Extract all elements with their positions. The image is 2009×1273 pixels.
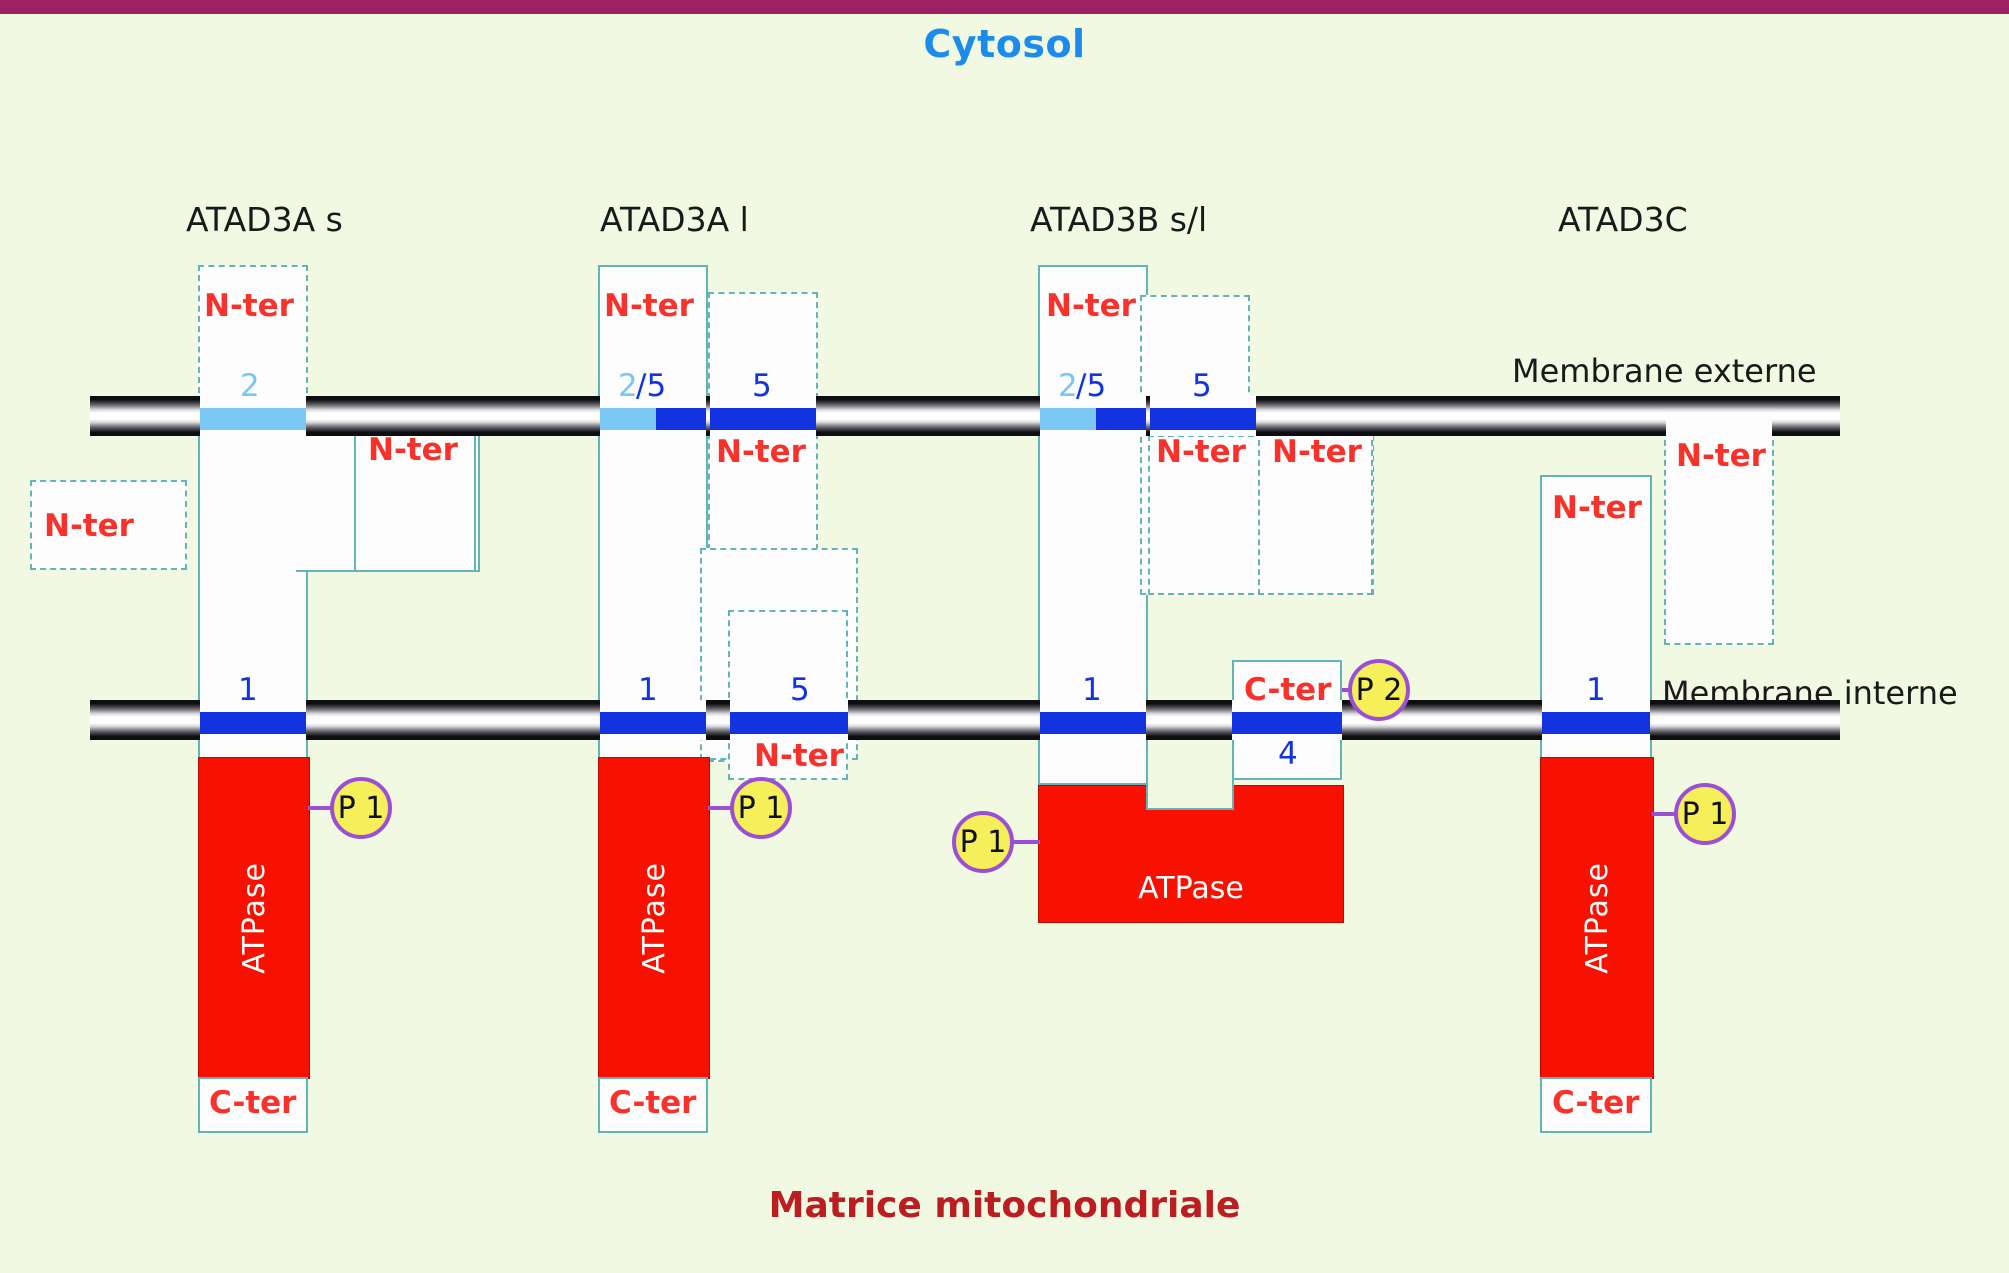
tm-number-atad3a-l-5-inner: 5 [790,672,810,708]
phospho-marker-p1-atad3a-s[interactable]: P 1 [330,777,392,839]
atpase-label-atad3b: ATPase [1138,871,1244,906]
nter-label-atad3a-s-left: N-ter [44,508,134,544]
tm-atad3b-outer-5 [1096,408,1146,430]
protein-title-atad3c: ATAD3C [1558,200,1688,239]
phospho-marker-p1-atad3c[interactable]: P 1 [1674,783,1736,845]
tm-atad3b-outer-2 [1040,408,1096,430]
top-accent-bar [0,0,2009,14]
atad3c-outer-gap [1666,414,1772,438]
tm-atad3a-l-outer-5b [710,408,816,430]
cter-label-atad3c: C-ter [1552,1085,1639,1121]
nter-label-atad3c-left: N-ter [1552,490,1642,526]
tm-atad3a-l-inner-5 [730,712,848,734]
nter-label-atad3b-upper: N-ter [1046,288,1136,324]
protein-title-atad3a-l: ATAD3A l [600,200,749,239]
tm-atad3a-l-inner-1 [600,712,706,734]
atpase-atad3c: ATPase [1540,757,1654,1079]
phospho-marker-p2-atad3b[interactable]: P 2 [1348,659,1410,721]
nter-label-atad3b-mid: N-ter [1156,434,1246,470]
atad3b-atpase-notch [1146,740,1234,810]
protein-title-atad3a-s: ATAD3A s [186,200,343,239]
nter-label-atad3a-s-upper: N-ter [204,288,294,324]
matrix-label: Matrice mitochondriale [0,1185,2009,1226]
tm-number-atad3b-1: 1 [1082,672,1102,708]
atpase-atad3a-l: ATPase [598,757,710,1079]
tm-number-atad3c-1: 1 [1586,672,1606,708]
tm-number-atad3a-l-2: 2 [618,368,638,404]
cter-label-atad3a-s: C-ter [209,1085,296,1121]
protein-title-atad3b: ATAD3B s/l [1030,200,1207,239]
tm-number-atad3b-4: 4 [1278,736,1298,772]
phospho-marker-p1-atad3b[interactable]: P 1 [952,811,1014,873]
nter-label-atad3a-s-right: N-ter [368,432,458,468]
nter-label-atad3a-l-mid: N-ter [716,434,806,470]
outer-membrane-label: Membrane externe [1512,352,1817,390]
cytosol-label: Cytosol [0,22,2009,66]
tm-number-atad3b-5b: 5 [1192,368,1212,404]
tm-atad3b-outer-5b [1150,408,1256,430]
atpase-label-atad3a-l: ATPase [637,862,672,974]
nter-label-atad3a-l-upper: N-ter [604,288,694,324]
cter-label-atad3b: C-ter [1244,672,1331,708]
atpase-label-atad3c: ATPase [1580,862,1615,974]
tm-number-atad3b-5: /5 [1076,368,1106,404]
tm-number-atad3a-l-1: 1 [638,672,658,708]
tm-atad3a-s-outer-2 [200,408,306,430]
tm-atad3a-l-outer-2 [600,408,656,430]
tm-number-atad3a-l-5: /5 [636,368,666,404]
tm-atad3c-inner-1 [1542,712,1650,734]
tm-number-atad3a-s-1: 1 [238,672,258,708]
nter-label-atad3b-right: N-ter [1272,434,1362,470]
atpase-atad3a-s: ATPase [198,757,310,1079]
tm-atad3a-s-inner-1 [200,712,306,734]
phospho-marker-p1-atad3a-l[interactable]: P 1 [730,777,792,839]
tm-number-atad3b-2: 2 [1058,368,1078,404]
nter-label-atad3c-right: N-ter [1676,438,1766,474]
outer-membrane-leaflet-top [90,396,1840,413]
tm-atad3b-inner-4 [1232,712,1342,734]
cter-label-atad3a-l: C-ter [609,1085,696,1121]
tm-atad3a-l-outer-5 [656,408,706,430]
nter-label-atad3a-l-lower: N-ter [754,738,844,774]
tm-number-atad3a-s-2: 2 [240,368,260,404]
atpase-label-atad3a-s: ATPase [237,862,272,974]
phospho-connector-p1-atad3b [1010,840,1040,844]
tm-atad3b-inner-1 [1040,712,1146,734]
outer-membrane [90,396,1840,436]
tm-number-atad3a-l-5b: 5 [752,368,772,404]
outer-membrane-leaflet-bottom [90,419,1840,436]
